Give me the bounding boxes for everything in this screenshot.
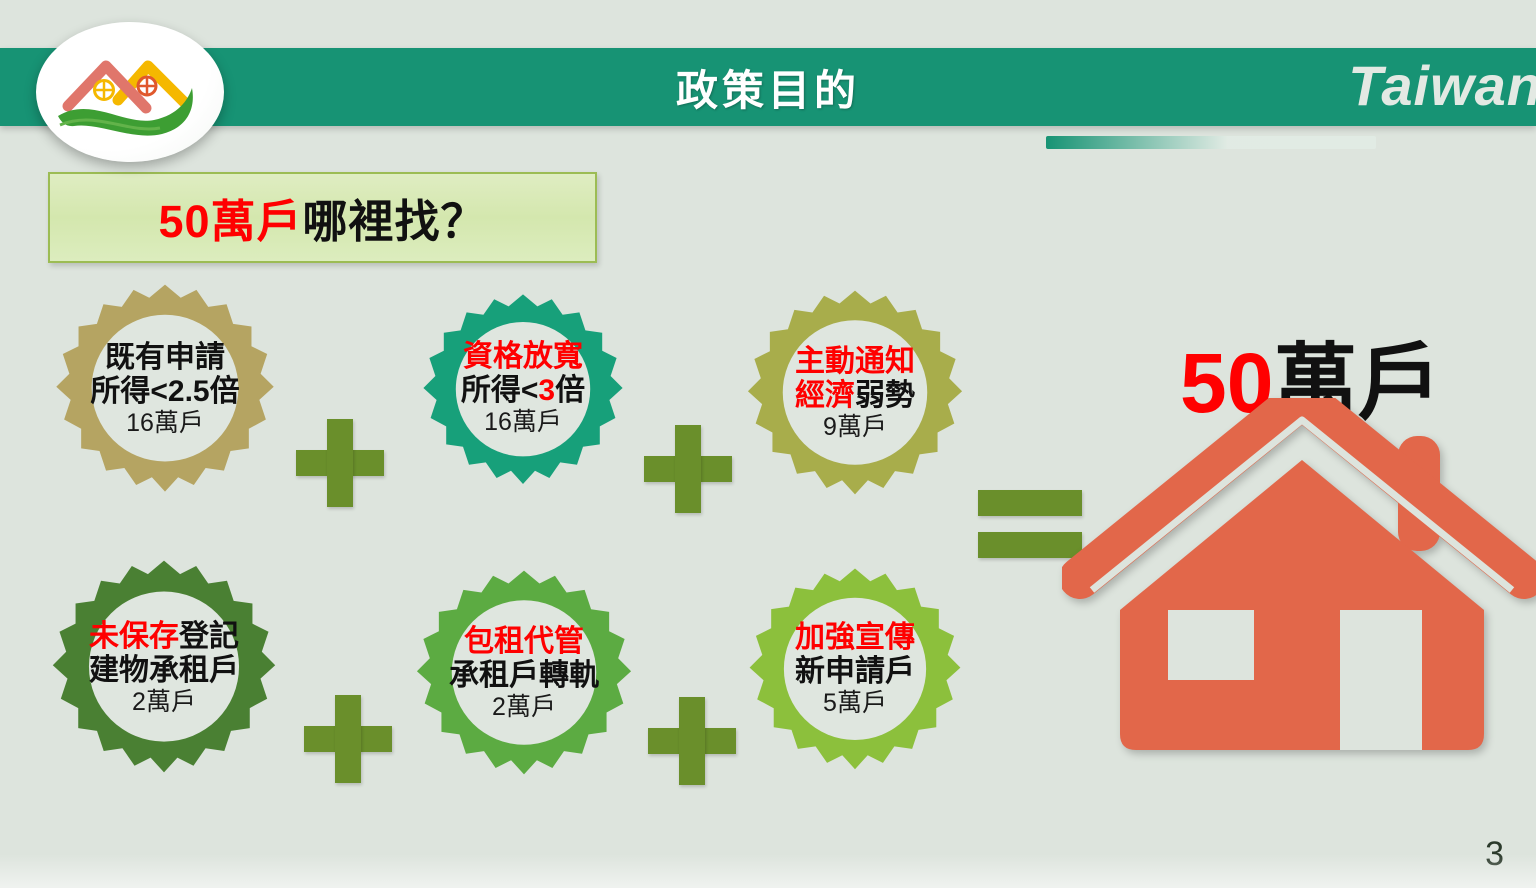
plus-sign-1	[292, 414, 388, 510]
plus-sign-2	[640, 420, 736, 516]
header-band: 政策目的	[0, 48, 1536, 126]
gear-existing-applications[interactable]: 既有申請 所得<2.5倍 16萬戶	[34, 282, 296, 544]
housing-roofs-logo	[36, 22, 224, 162]
gear-sublease-management[interactable]: 包租代管 承租戶轉軌 2萬戶	[395, 568, 653, 826]
question-box: 50萬戶哪裡找？	[48, 172, 597, 263]
gear-enhanced-promotion[interactable]: 加強宣傳 新申請戶 5萬戶	[728, 566, 982, 820]
question-highlight: 50萬戶	[158, 196, 302, 247]
gear-relaxed-qualification[interactable]: 資格放寬 所得<3倍 16萬戶	[403, 292, 643, 532]
plus-sign-3	[300, 690, 396, 786]
plus-sign-4	[644, 692, 740, 788]
header-swoosh-decoration	[1046, 136, 1376, 149]
house-icon	[1062, 398, 1536, 798]
slide-canvas: 政策目的 Taiwan 50萬戶哪裡找？	[0, 0, 1536, 888]
gear-unregistered-buildings[interactable]: 未保存登記 建物承租戶 2萬戶	[30, 558, 298, 826]
page-title: 政策目的	[0, 48, 1536, 126]
gear-proactive-notification[interactable]: 主動通知 經濟弱勢 9萬戶	[726, 288, 984, 546]
page-number: 3	[1485, 835, 1504, 874]
question-text: 50萬戶哪裡找？	[158, 185, 486, 250]
question-rest: 哪裡找？	[303, 196, 487, 247]
